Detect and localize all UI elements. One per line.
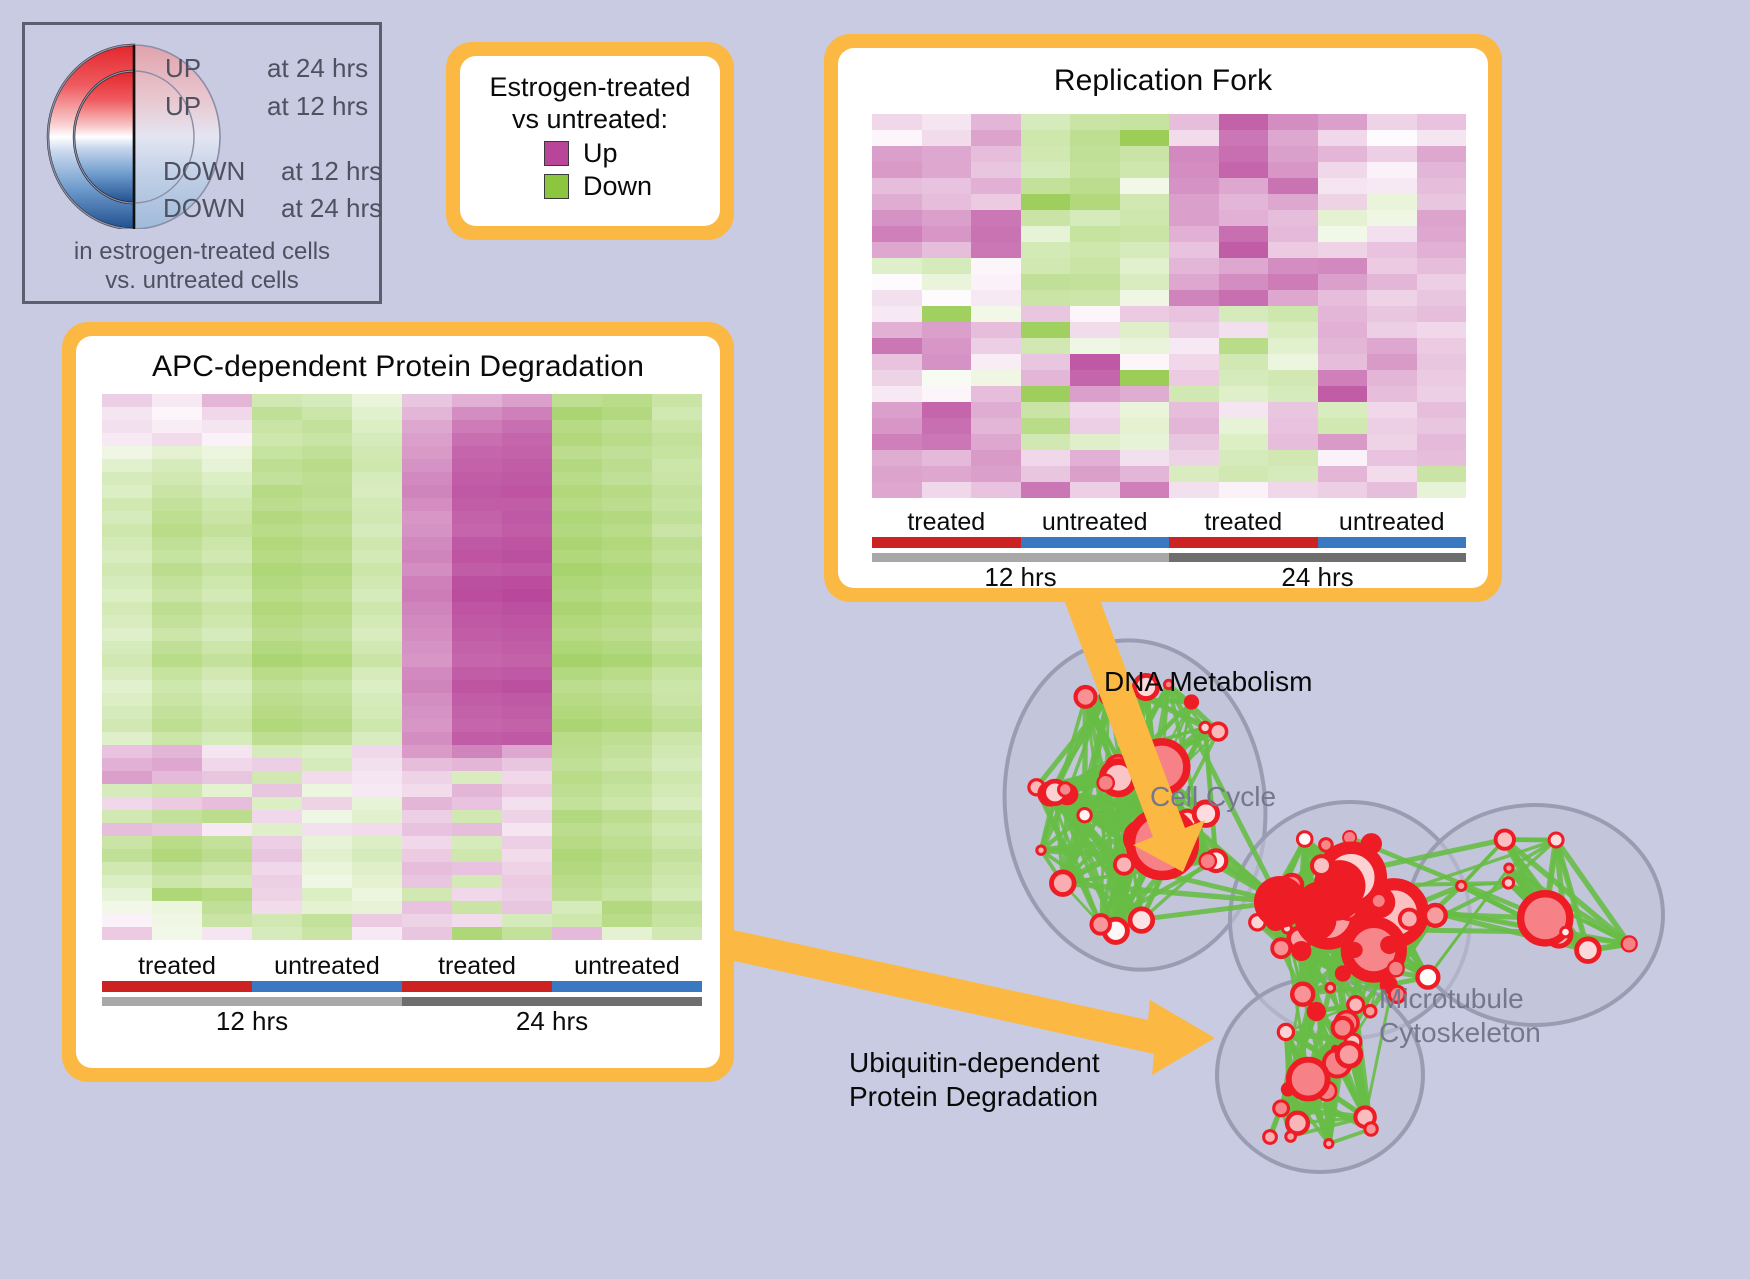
heatmap-cell: [1367, 274, 1417, 290]
heatmap-cell: [1219, 434, 1269, 450]
heatmap-cell: [452, 875, 502, 888]
heatmap-cell: [252, 810, 302, 823]
heatmap-cell: [552, 407, 602, 420]
heatmap-cell: [1021, 322, 1071, 338]
heatmap-cell: [202, 849, 252, 862]
heatmap-cell: [202, 927, 252, 940]
heatmap-cell: [402, 472, 452, 485]
heatmap-cell: [352, 615, 402, 628]
heatmap-cell: [652, 784, 702, 797]
heatmap-cell: [971, 114, 1021, 130]
heatmap-cell: [652, 407, 702, 420]
heatmap-cell: [502, 732, 552, 745]
heatmap-cell: [252, 680, 302, 693]
apc-degradation-inner: APC-dependent Protein Degradation treate…: [76, 336, 720, 1068]
heatmap-cell: [1367, 258, 1417, 274]
heatmap-cell: [1120, 210, 1170, 226]
heatmap-cell: [402, 511, 452, 524]
heatmap-cell: [152, 732, 202, 745]
heatmap-cell: [252, 420, 302, 433]
heatmap-cell: [402, 901, 452, 914]
network-node: [1286, 1132, 1296, 1142]
heatmap-cell: [652, 394, 702, 407]
heatmap-cell: [1268, 434, 1318, 450]
heatmap-cell: [102, 472, 152, 485]
heatmap-cell: [1120, 466, 1170, 482]
heatmap-cell: [1021, 402, 1071, 418]
heatmap-cell: [1219, 466, 1269, 482]
heatmap-cell: [302, 667, 352, 680]
heatmap-cell: [1021, 338, 1071, 354]
heatmap-cell: [552, 836, 602, 849]
heatmap-cell: [352, 927, 402, 940]
heatmap-cell: [202, 719, 252, 732]
apc-time-labels: 12 hrs 24 hrs: [102, 1006, 702, 1037]
heatmap-cell: [252, 693, 302, 706]
heatmap-cell: [971, 402, 1021, 418]
heatmap-cell: [652, 745, 702, 758]
heatmap-cell: [102, 628, 152, 641]
heatmap-cell: [1070, 370, 1120, 386]
condition-bar-segment-0: [872, 537, 1021, 548]
heatmap-cell: [102, 732, 152, 745]
heatmap-cell: [352, 784, 402, 797]
heatmap-cell: [452, 589, 502, 602]
heatmap-cell: [152, 433, 202, 446]
color-key-box: UP at 24 hrs UP at 12 hrs DOWN at 12 hrs…: [22, 22, 382, 304]
heatmap-cell: [1120, 322, 1170, 338]
heatmap-cell: [1120, 242, 1170, 258]
heatmap-cell: [1021, 290, 1071, 306]
heatmap-cell: [552, 446, 602, 459]
heatmap-cell: [1070, 194, 1120, 210]
heatmap-cell: [1021, 114, 1071, 130]
heatmap-cell: [552, 576, 602, 589]
time-bar-segment-0: [872, 553, 1169, 562]
heatmap-cell: [922, 290, 972, 306]
heatmap-cell: [872, 274, 922, 290]
heatmap-cell: [202, 745, 252, 758]
heatmap-cell: [102, 797, 152, 810]
heatmap-cell: [1219, 194, 1269, 210]
heatmap-cell: [1367, 450, 1417, 466]
heatmap-cell: [302, 745, 352, 758]
heatmap-cell: [302, 407, 352, 420]
heatmap-cell: [502, 654, 552, 667]
heatmap-cell: [971, 258, 1021, 274]
heatmap-cell: [402, 394, 452, 407]
heatmap-cell: [1120, 130, 1170, 146]
heatmap-cell: [1268, 210, 1318, 226]
heatmap-cell: [602, 667, 652, 680]
heatmap-cell: [452, 927, 502, 940]
heatmap-cell: [452, 693, 502, 706]
legend-item-up: Up: [544, 138, 710, 169]
heatmap-cell: [1318, 482, 1368, 498]
heatmap-cell: [502, 498, 552, 511]
heatmap-cell: [102, 433, 152, 446]
network-node: [1115, 856, 1133, 874]
heatmap-cell: [1268, 354, 1318, 370]
heatmap-cell: [1120, 114, 1170, 130]
heatmap-cell: [1268, 338, 1318, 354]
heatmap-cell: [1367, 482, 1417, 498]
cluster-label-dna-metabolism: DNA Metabolism: [1104, 666, 1313, 698]
heatmap-cell: [971, 146, 1021, 162]
heatmap-cell: [652, 914, 702, 927]
heatmap-cell: [152, 550, 202, 563]
heatmap-cell: [402, 693, 452, 706]
condition-bar-segment-3: [552, 981, 702, 992]
heatmap-cell: [872, 354, 922, 370]
heatmap-cell: [252, 615, 302, 628]
heatmap-cell: [922, 418, 972, 434]
heatmap-cell: [402, 667, 452, 680]
legend-inner: Estrogen-treated vs untreated: Up Down: [460, 56, 720, 226]
heatmap-cell: [602, 511, 652, 524]
heatmap-cell: [1417, 226, 1467, 242]
apc-degradation-panel: APC-dependent Protein Degradation treate…: [62, 322, 734, 1082]
heatmap-cell: [102, 641, 152, 654]
heatmap-cell: [1169, 146, 1219, 162]
heatmap-cell: [652, 862, 702, 875]
heatmap-cell: [602, 823, 652, 836]
heatmap-cell: [202, 862, 252, 875]
heatmap-cell: [552, 602, 602, 615]
heatmap-cell: [352, 420, 402, 433]
heatmap-cell: [352, 485, 402, 498]
heatmap-cell: [502, 758, 552, 771]
heatmap-cell: [872, 418, 922, 434]
heatmap-cell: [922, 226, 972, 242]
heatmap-cell: [1169, 402, 1219, 418]
heatmap-cell: [602, 537, 652, 550]
heatmap-cell: [1169, 434, 1219, 450]
heatmap-cell: [1417, 162, 1467, 178]
key-row-3-label: DOWN: [163, 193, 245, 224]
heatmap-cell: [502, 589, 552, 602]
heatmap-cell: [502, 927, 552, 940]
network-node: [1254, 876, 1306, 928]
heatmap-cell: [1120, 226, 1170, 242]
heatmap-cell: [1318, 386, 1368, 402]
heatmap-cell: [252, 797, 302, 810]
heatmap-cell: [302, 758, 352, 771]
heatmap-cell: [1021, 370, 1071, 386]
heatmap-cell: [202, 459, 252, 472]
heatmap-cell: [922, 194, 972, 210]
heatmap-cell: [252, 784, 302, 797]
replication-fork-heatmap: [872, 114, 1466, 498]
heatmap-cell: [502, 914, 552, 927]
heatmap-cell: [102, 758, 152, 771]
heatmap-cell: [652, 472, 702, 485]
apc-heatmap: [102, 394, 702, 940]
heatmap-cell: [152, 875, 202, 888]
network-edge: [1085, 697, 1086, 815]
heatmap-cell: [302, 446, 352, 459]
key-row-2-label: DOWN: [163, 156, 245, 187]
heatmap-cell: [552, 654, 602, 667]
heatmap-cell: [502, 394, 552, 407]
heatmap-cell: [652, 693, 702, 706]
heatmap-cell: [202, 758, 252, 771]
heatmap-cell: [872, 146, 922, 162]
heatmap-cell: [452, 732, 502, 745]
heatmap-cell: [252, 446, 302, 459]
heatmap-cell: [922, 258, 972, 274]
heatmap-cell: [352, 589, 402, 602]
heatmap-cell: [1268, 450, 1318, 466]
heatmap-cell: [1021, 450, 1071, 466]
heatmap-cell: [602, 459, 652, 472]
heatmap-cell: [152, 862, 202, 875]
heatmap-cell: [652, 875, 702, 888]
heatmap-cell: [1120, 306, 1170, 322]
heatmap-cell: [971, 274, 1021, 290]
network-node: [1505, 864, 1513, 872]
heatmap-cell: [652, 823, 702, 836]
heatmap-cell: [102, 420, 152, 433]
heatmap-cell: [102, 901, 152, 914]
heatmap-cell: [552, 420, 602, 433]
heatmap-cell: [352, 888, 402, 901]
heatmap-cell: [872, 290, 922, 306]
heatmap-cell: [552, 758, 602, 771]
heatmap-cell: [1268, 130, 1318, 146]
heatmap-cell: [652, 563, 702, 576]
heatmap-cell: [602, 446, 652, 459]
heatmap-cell: [302, 927, 352, 940]
heatmap-cell: [452, 680, 502, 693]
heatmap-cell: [202, 888, 252, 901]
heatmap-cell: [1219, 322, 1269, 338]
heatmap-cell: [502, 901, 552, 914]
heatmap-cell: [402, 836, 452, 849]
network-node: [1337, 1043, 1360, 1066]
heatmap-cell: [602, 862, 652, 875]
heatmap-cell: [1070, 130, 1120, 146]
heatmap-cell: [152, 446, 202, 459]
heatmap-cell: [352, 914, 402, 927]
heatmap-cell: [652, 576, 702, 589]
heatmap-cell: [1417, 354, 1467, 370]
heatmap-cell: [402, 654, 452, 667]
heatmap-cell: [402, 459, 452, 472]
down-swatch-icon: [544, 174, 569, 199]
heatmap-cell: [652, 628, 702, 641]
heatmap-cell: [872, 130, 922, 146]
heatmap-cell: [1268, 194, 1318, 210]
network-node: [1210, 723, 1227, 740]
heatmap-cell: [402, 641, 452, 654]
apc-degradation-title: APC-dependent Protein Degradation: [76, 336, 720, 384]
heatmap-cell: [502, 472, 552, 485]
heatmap-cell: [1169, 194, 1219, 210]
network-node: [1320, 839, 1333, 852]
heatmap-cell: [202, 615, 252, 628]
network-node: [1311, 871, 1361, 921]
heatmap-cell: [552, 823, 602, 836]
heatmap-cell: [352, 875, 402, 888]
heatmap-cell: [102, 849, 152, 862]
heatmap-cell: [452, 719, 502, 732]
heatmap-cell: [152, 654, 202, 667]
heatmap-cell: [202, 654, 252, 667]
heatmap-cell: [1120, 146, 1170, 162]
heatmap-cell: [202, 914, 252, 927]
apc-group-label-0: treated: [102, 952, 252, 981]
heatmap-cell: [1268, 386, 1318, 402]
heatmap-cell: [1120, 354, 1170, 370]
time-bar-segment-0: [102, 997, 402, 1006]
heatmap-cell: [252, 875, 302, 888]
network-svg: [790, 620, 1750, 1279]
heatmap-cell: [1169, 338, 1219, 354]
heatmap-cell: [971, 354, 1021, 370]
heatmap-cell: [302, 576, 352, 589]
heatmap-cell: [1417, 242, 1467, 258]
heatmap-cell: [502, 641, 552, 654]
heatmap-cell: [872, 114, 922, 130]
heatmap-cell: [1120, 450, 1170, 466]
heatmap-cell: [652, 797, 702, 810]
heatmap-cell: [1169, 242, 1219, 258]
heatmap-cell: [1318, 418, 1368, 434]
heatmap-cell: [652, 602, 702, 615]
apc-condition-bar: [102, 981, 702, 992]
heatmap-cell: [302, 914, 352, 927]
heatmap-cell: [252, 498, 302, 511]
heatmap-cell: [502, 797, 552, 810]
legend-title-line-1: Estrogen-treated: [470, 72, 710, 104]
heatmap-cell: [1021, 466, 1071, 482]
heatmap-cell: [1367, 386, 1417, 402]
heatmap-cell: [502, 420, 552, 433]
heatmap-cell: [452, 563, 502, 576]
heatmap-cell: [102, 927, 152, 940]
network-node: [1577, 939, 1600, 962]
heatmap-cell: [402, 914, 452, 927]
heatmap-cell: [1417, 418, 1467, 434]
heatmap-cell: [1070, 306, 1120, 322]
heatmap-cell: [402, 407, 452, 420]
heatmap-cell: [971, 322, 1021, 338]
heatmap-cell: [1318, 322, 1368, 338]
heatmap-cell: [402, 784, 452, 797]
heatmap-cell: [452, 706, 502, 719]
network-node: [1272, 939, 1290, 957]
heatmap-cell: [652, 459, 702, 472]
heatmap-cell: [502, 485, 552, 498]
heatmap-cell: [922, 306, 972, 322]
heatmap-cell: [302, 524, 352, 537]
heatmap-cell: [152, 511, 202, 524]
heatmap-cell: [1070, 146, 1120, 162]
heatmap-cell: [152, 758, 202, 771]
heatmap-cell: [1367, 162, 1417, 178]
heatmap-cell: [1169, 290, 1219, 306]
key-row-0-time: at 24 hrs: [267, 53, 368, 84]
heatmap-cell: [971, 338, 1021, 354]
heatmap-cell: [1318, 466, 1368, 482]
network-node: [1037, 846, 1045, 854]
heatmap-cell: [652, 524, 702, 537]
heatmap-cell: [1417, 306, 1467, 322]
heatmap-cell: [552, 641, 602, 654]
heatmap-cell: [452, 537, 502, 550]
heatmap-cell: [1417, 114, 1467, 130]
heatmap-cell: [922, 274, 972, 290]
heatmap-cell: [1417, 210, 1467, 226]
heatmap-cell: [452, 498, 502, 511]
heatmap-cell: [252, 576, 302, 589]
heatmap-cell: [352, 563, 402, 576]
heatmap-cell: [1219, 354, 1269, 370]
heatmap-cell: [1367, 114, 1417, 130]
heatmap-cell: [602, 420, 652, 433]
heatmap-cell: [971, 194, 1021, 210]
heatmap-cell: [102, 875, 152, 888]
heatmap-cell: [152, 836, 202, 849]
heatmap-cell: [402, 524, 452, 537]
heatmap-cell: [402, 797, 452, 810]
heatmap-cell: [1021, 194, 1071, 210]
heatmap-cell: [452, 459, 502, 472]
heatmap-cell: [452, 602, 502, 615]
heatmap-cell: [652, 589, 702, 602]
heatmap-cell: [302, 836, 352, 849]
heatmap-cell: [1021, 162, 1071, 178]
network-node: [1365, 1123, 1377, 1135]
heatmap-cell: [502, 706, 552, 719]
time-bar-segment-1: [402, 997, 702, 1006]
heatmap-cell: [552, 680, 602, 693]
heatmap-cell: [922, 370, 972, 386]
heatmap-cell: [452, 420, 502, 433]
rf-group-label-1: untreated: [1021, 508, 1170, 537]
heatmap-cell: [652, 446, 702, 459]
heatmap-cell: [152, 901, 202, 914]
heatmap-cell: [102, 706, 152, 719]
apc-group-label-3: untreated: [552, 952, 702, 981]
heatmap-cell: [252, 745, 302, 758]
heatmap-cell: [1169, 274, 1219, 290]
heatmap-cell: [152, 498, 202, 511]
heatmap-cell: [152, 628, 202, 641]
heatmap-cell: [302, 459, 352, 472]
heatmap-cell: [502, 823, 552, 836]
heatmap-cell: [1367, 226, 1417, 242]
heatmap-cell: [452, 784, 502, 797]
heatmap-cell: [1070, 338, 1120, 354]
heatmap-cell: [1219, 418, 1269, 434]
heatmap-cell: [102, 485, 152, 498]
heatmap-cell: [1070, 434, 1120, 450]
heatmap-cell: [502, 446, 552, 459]
heatmap-cell: [102, 498, 152, 511]
heatmap-cell: [1318, 354, 1368, 370]
heatmap-cell: [1120, 338, 1170, 354]
condition-bar-segment-1: [252, 981, 402, 992]
heatmap-cell: [1219, 386, 1269, 402]
network-node: [1496, 830, 1514, 848]
heatmap-cell: [252, 550, 302, 563]
heatmap-cell: [302, 810, 352, 823]
heatmap-cell: [602, 563, 652, 576]
heatmap-cell: [452, 849, 502, 862]
heatmap-cell: [352, 758, 402, 771]
